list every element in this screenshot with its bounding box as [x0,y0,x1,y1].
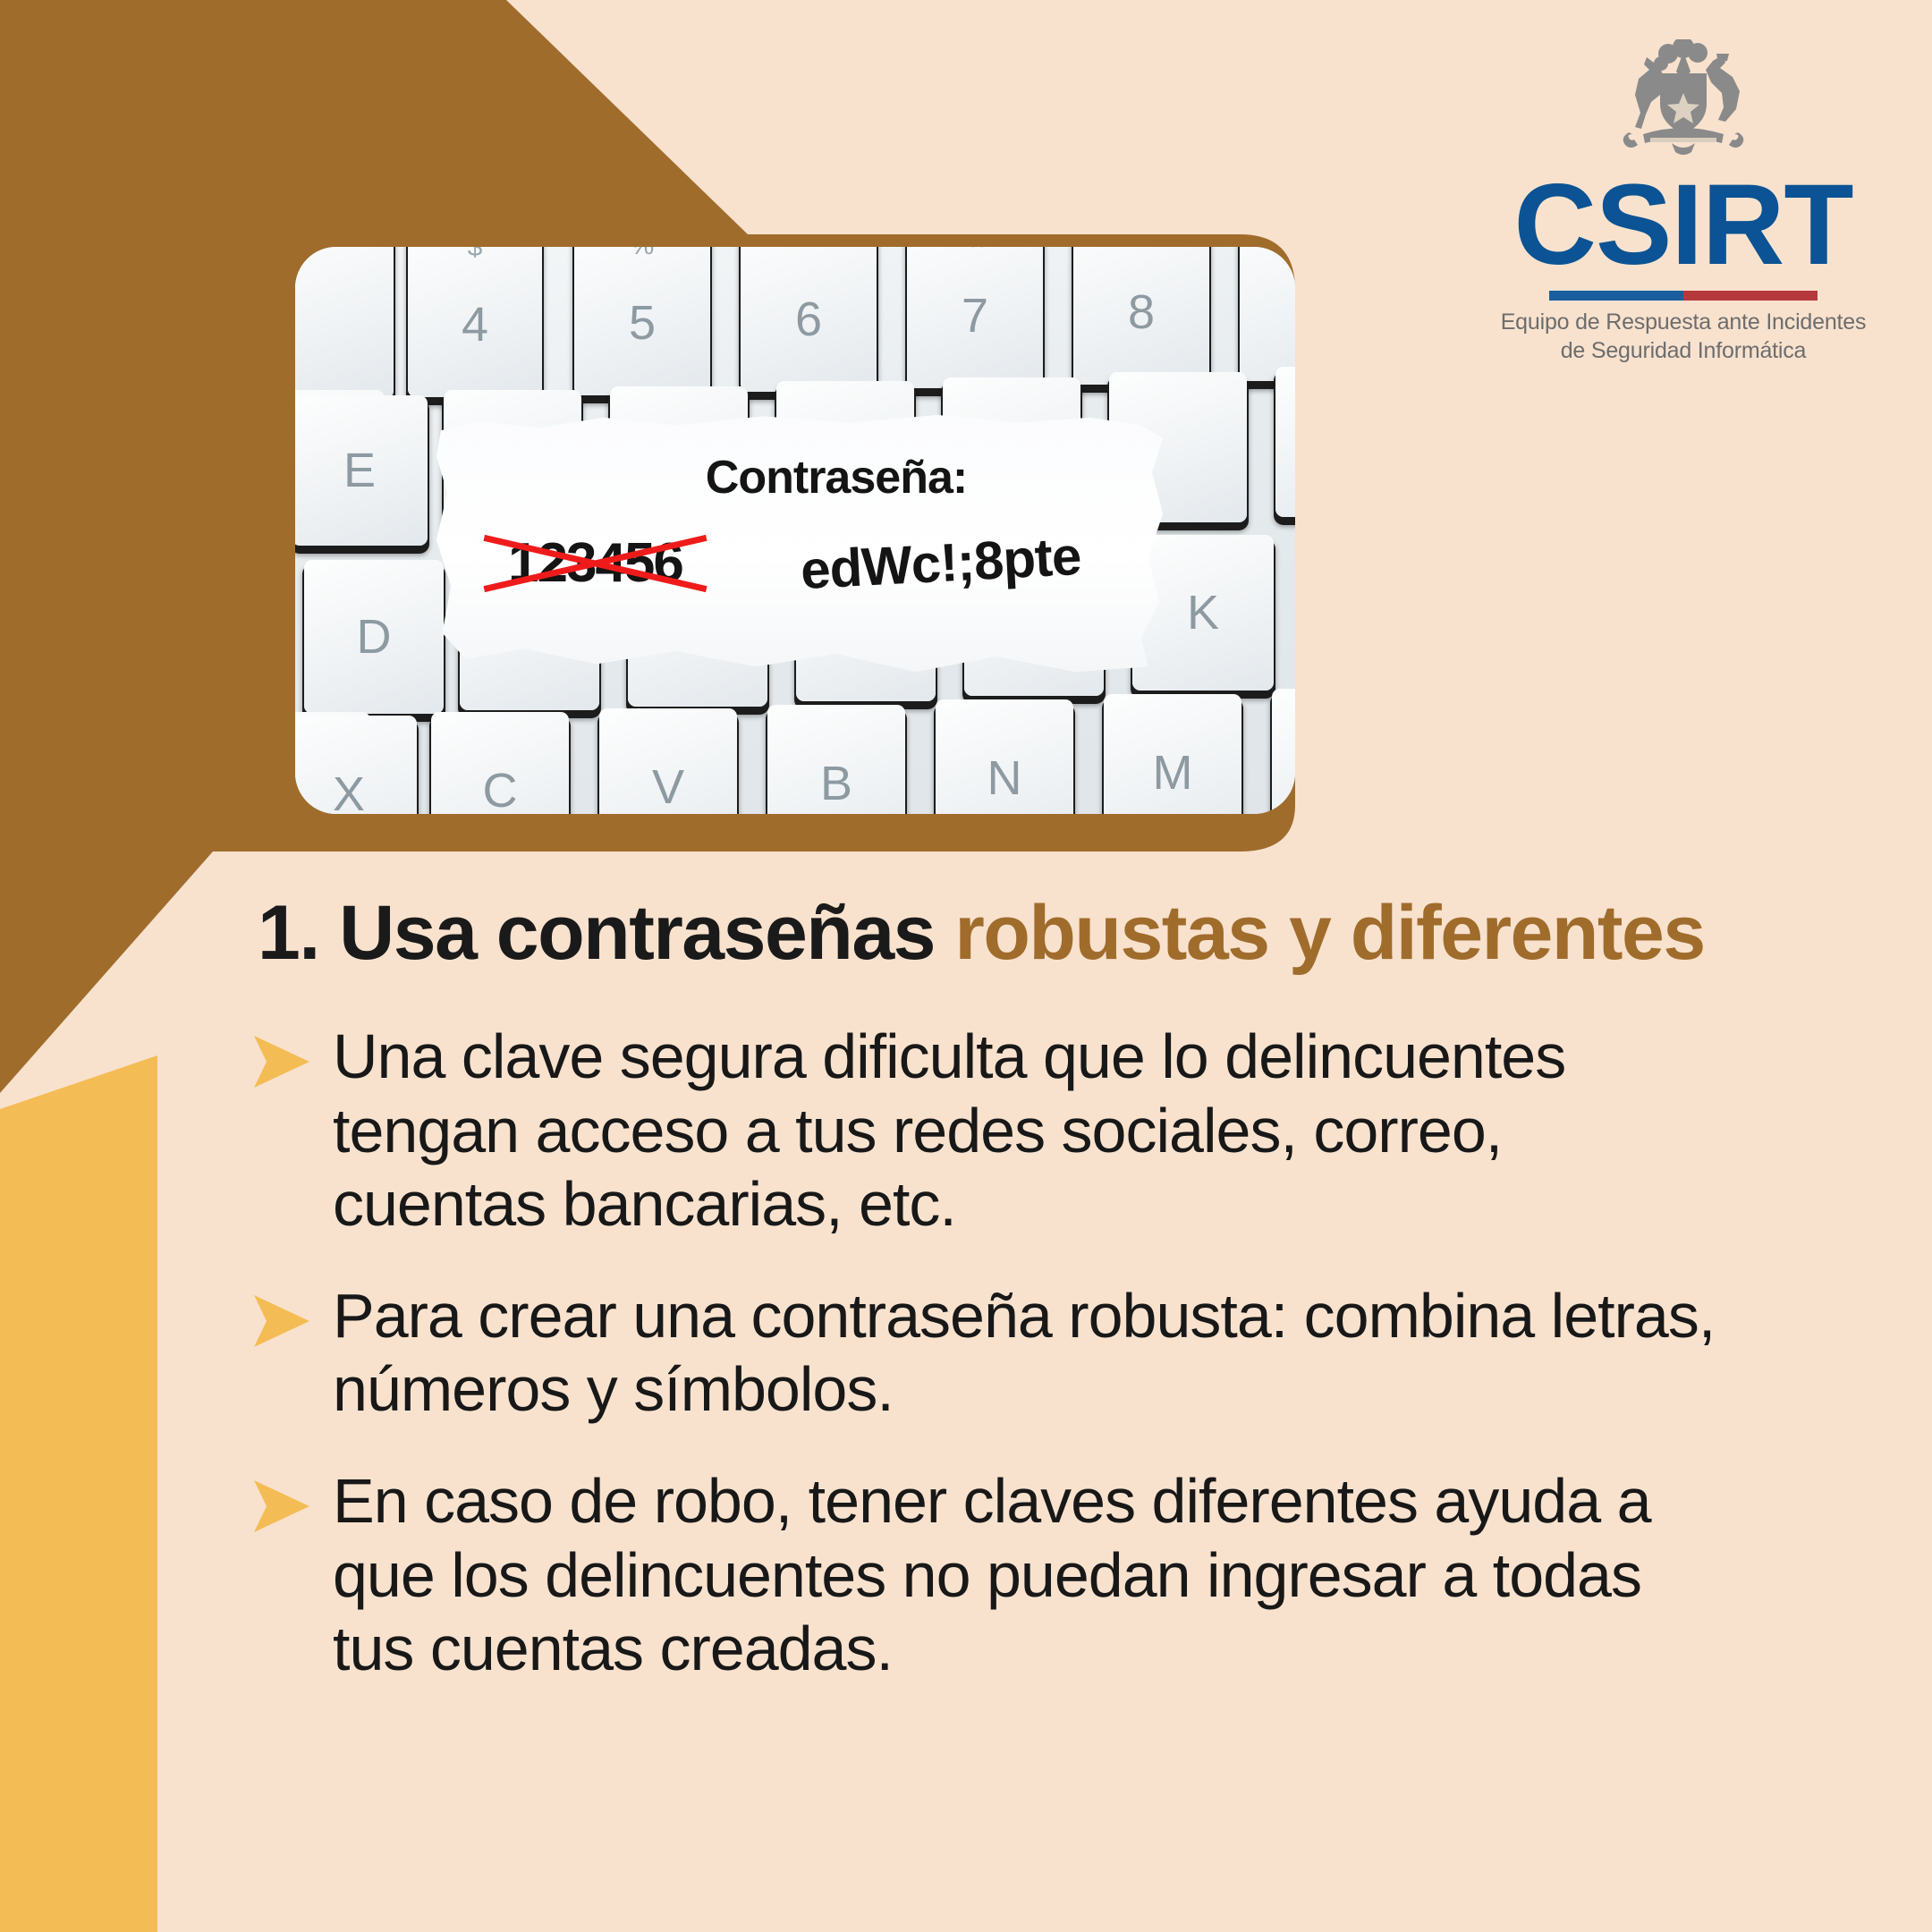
strong-password: edWc!;8pte [799,525,1082,601]
key-8: * 8 [1073,247,1209,385]
key-7-symbol: & [966,247,984,254]
key-k-label: K [1187,585,1219,640]
key-3 [295,247,394,399]
key-6: ^ 6 [741,247,877,392]
key-6-symbol: ^ [802,247,815,258]
key-4-symbol: $ [468,247,483,263]
key-v-label: V [652,759,684,814]
key-b-label: B [820,756,852,811]
key-8-symbol: * [1136,247,1147,250]
flag-bar-blue [1549,291,1683,301]
key-5-symbol: % [631,247,655,261]
key-e-label: E [343,443,376,498]
password-note: Contraseña: 123456 edWc!;8pte [436,415,1163,674]
key-d-label: D [357,609,392,665]
headline-brown: robustas y diferentes [954,890,1704,976]
csirt-subtitle: Equipo de Respuesta ante Incidentes de S… [1496,309,1871,365]
yellow-left-band [0,1055,157,1932]
keyboard-surface: $ 4 % 5 ^ 6 & 7 * 8 ( 9 [295,247,1295,814]
flag-bar-red [1683,291,1818,301]
headline-number: 1. [258,890,319,976]
key-b: B [767,705,905,814]
infographic-poster: CSIRT Equipo de Respuesta ante Incidente… [0,0,1932,1932]
flag-bar [1549,291,1818,301]
arrow-right-icon [252,1293,311,1349]
tips-list: Una clave segura dificulta que lo delinc… [252,1020,1719,1724]
password-row: 123456 edWc!;8pte [436,528,1163,598]
key-4: $ 4 [408,247,542,397]
key-o [1275,367,1295,517]
key-9-label: 9 [1294,281,1295,336]
note-title: Contraseña: [436,451,1163,504]
list-item-text: En caso de robo, tener claves diferentes… [333,1464,1719,1686]
csirt-subtitle-line-1: Equipo de Respuesta ante Incidentes [1496,309,1871,337]
page-title: 1. Usa contraseñas robustas y diferentes [258,894,1705,971]
csirt-subtitle-line-2: de Seguridad Informática [1496,337,1871,366]
key-5: % 5 [574,247,710,395]
key-m-label: M [1153,745,1193,801]
key-m: M [1104,694,1241,814]
list-item: Una clave segura dificulta que lo delinc… [252,1020,1719,1241]
chile-coat-of-arms-icon [1609,39,1758,166]
key-n: N [936,699,1073,814]
key-x-label: X [333,767,365,814]
key-comma [1272,689,1295,814]
key-c-label: C [483,763,518,814]
keyboard-photo: $ 4 % 5 ^ 6 & 7 * 8 ( 9 [295,247,1295,814]
key-e: E [295,395,428,546]
key-7: & 7 [907,247,1043,388]
arrow-right-icon [252,1479,311,1534]
key-6-label: 6 [795,292,822,347]
arrow-right-icon [252,1034,311,1089]
headline-black: Usa contraseñas [339,890,935,976]
key-9: ( 9 [1240,247,1295,381]
weak-password-crossed-out: 123456 [497,528,693,598]
csirt-logo: CSIRT Equipo de Respuesta ante Incidente… [1496,39,1871,365]
csirt-wordmark: CSIRT [1496,168,1871,283]
list-item-text: Una clave segura dificulta que lo delinc… [333,1020,1719,1241]
list-item: Para crear una contraseña robusta: combi… [252,1279,1719,1427]
key-7-label: 7 [962,288,988,343]
key-x: X [295,716,417,814]
key-8-label: 8 [1128,284,1155,340]
list-item-text: Para crear una contraseña robusta: combi… [333,1279,1719,1427]
key-5-label: 5 [629,295,656,351]
key-c: C [431,712,569,814]
key-n-label: N [987,750,1022,806]
key-4-label: 4 [462,297,488,352]
list-item: En caso de robo, tener claves diferentes… [252,1464,1719,1686]
key-d: D [304,560,444,714]
key-v: V [599,708,737,814]
